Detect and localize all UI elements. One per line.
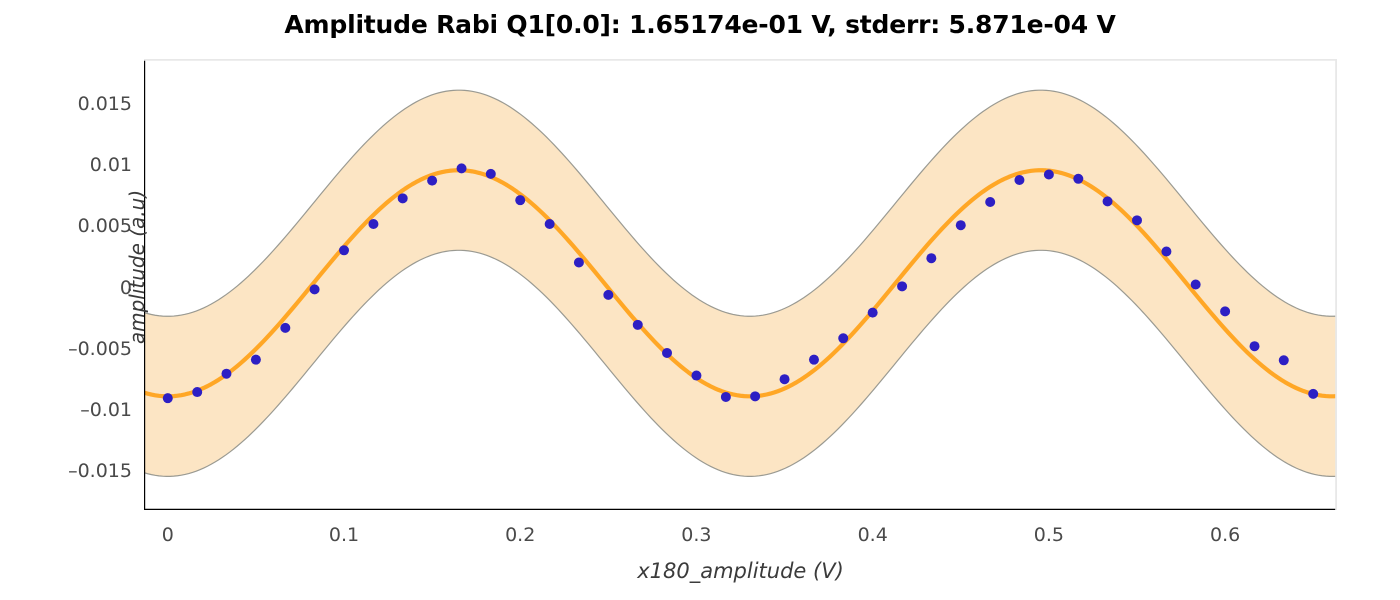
x-tick-label: 0.3 [681,524,711,546]
data-point [838,333,848,343]
data-point [633,320,643,330]
data-point [545,219,555,229]
plot-axes: 0.0150.010.0050–0.005–0.01–0.015 00.10.2… [144,59,1337,510]
data-point [926,253,936,263]
data-point [310,284,320,294]
data-point [1132,215,1142,225]
data-point [1279,355,1289,365]
x-tick-label: 0.2 [505,524,535,546]
data-point [163,393,173,403]
data-point [750,391,760,401]
y-tick-label: –0.01 [80,399,132,421]
y-tick-label: 0.015 [78,93,132,115]
data-point [1220,306,1230,316]
y-axis-label: amplitude (a.u) [125,142,149,392]
x-tick-label: 0.5 [1034,524,1064,546]
data-point [486,169,496,179]
data-point [398,193,408,203]
data-point [1308,389,1318,399]
x-tick-label: 0.4 [858,524,888,546]
data-point [1161,247,1171,257]
data-point [691,371,701,381]
data-point [221,369,231,379]
data-point [280,323,290,333]
data-point [368,219,378,229]
data-point [339,245,349,255]
y-tick-label: 0.005 [78,215,132,237]
data-point [1044,170,1054,180]
data-point [1014,175,1024,185]
data-point [603,290,613,300]
data-point [574,258,584,268]
confidence-band [144,90,1337,476]
x-tick-label: 0.6 [1210,524,1240,546]
data-point [721,392,731,402]
data-point [809,355,819,365]
data-point [1250,341,1260,351]
data-point [251,355,261,365]
x-axis-label: x180_amplitude (V) [144,559,1337,583]
page-title: Amplitude Rabi Q1[0.0]: 1.65174e-01 V, s… [0,10,1400,39]
data-point [897,281,907,291]
figure-root: Amplitude Rabi Q1[0.0]: 1.65174e-01 V, s… [0,0,1400,600]
data-point [1073,174,1083,184]
data-point [1103,196,1113,206]
plot-canvas [144,59,1337,510]
data-point [427,176,437,186]
data-point [985,197,995,207]
data-point [780,374,790,384]
y-tick-label: –0.015 [68,460,132,482]
data-point [662,348,672,358]
data-point [192,387,202,397]
data-point [457,163,467,173]
y-tick-label: –0.005 [68,338,132,360]
x-tick-label: 0.1 [329,524,359,546]
x-tick-label: 0 [162,524,174,546]
data-point [956,220,966,230]
data-point [868,308,878,318]
data-point [515,195,525,205]
data-point [1191,280,1201,290]
